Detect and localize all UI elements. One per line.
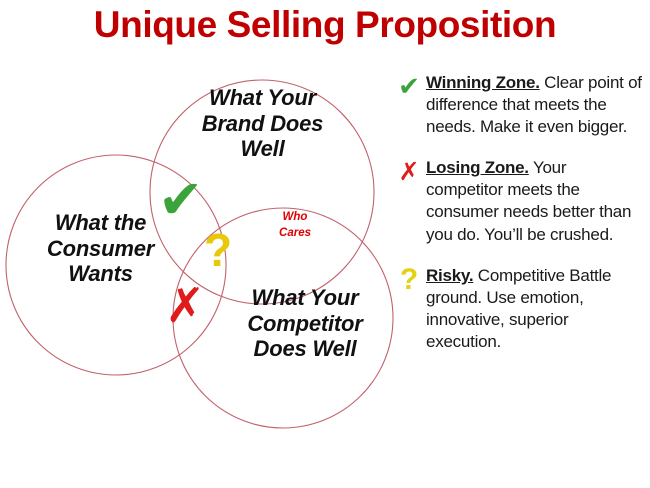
- venn-label-competitor: What Your Competitor Does Well: [205, 285, 405, 362]
- venn-label-brand-line3: Well: [160, 136, 365, 162]
- venn-label-brand-line1: What Your: [160, 85, 365, 111]
- legend-item-risky-zone: ? Risky. Competitive Battle ground. Use …: [392, 265, 644, 353]
- venn-label-who-cares-line2: Cares: [255, 226, 335, 242]
- legend-zone-title-winning: Winning Zone.: [426, 73, 540, 92]
- legend-item-losing-zone: ✗ Losing Zone. Your competitor meets the…: [392, 157, 644, 245]
- venn-label-who-cares: Who Cares: [255, 210, 335, 241]
- page-title: Unique Selling Proposition: [0, 4, 650, 46]
- legend-text-winning-zone: Winning Zone. Clear point of difference …: [426, 72, 644, 138]
- check-mark-icon: ✔: [392, 72, 426, 100]
- venn-label-brand: What Your Brand Does Well: [160, 85, 365, 162]
- venn-label-brand-line2: Brand Does: [160, 111, 365, 137]
- venn-check-mark-icon: ✔: [158, 173, 203, 227]
- cross-mark-icon: ✗: [392, 157, 426, 184]
- slide-canvas: Unique Selling Proposition What the Cons…: [0, 0, 650, 488]
- venn-label-who-cares-line1: Who: [255, 210, 335, 226]
- legend-text-losing-zone: Losing Zone. Your competitor meets the c…: [426, 157, 644, 245]
- venn-label-consumer-line2: Consumer: [8, 236, 193, 262]
- venn-question-mark-icon: ?: [204, 227, 232, 273]
- question-mark-icon: ?: [392, 265, 426, 295]
- venn-label-competitor-line1: What Your: [205, 285, 405, 311]
- legend-text-risky-zone: Risky. Competitive Battle ground. Use em…: [426, 265, 644, 353]
- venn-label-competitor-line2: Competitor: [205, 311, 405, 337]
- legend-panel: ✔ Winning Zone. Clear point of differenc…: [392, 72, 644, 367]
- legend-zone-title-risky: Risky.: [426, 266, 473, 285]
- venn-label-competitor-line3: Does Well: [205, 336, 405, 362]
- legend-item-winning-zone: ✔ Winning Zone. Clear point of differenc…: [392, 72, 644, 138]
- venn-diagram: What the Consumer Wants What Your Brand …: [0, 55, 410, 475]
- legend-zone-title-losing: Losing Zone.: [426, 158, 529, 177]
- venn-cross-mark-icon: ✗: [165, 282, 205, 330]
